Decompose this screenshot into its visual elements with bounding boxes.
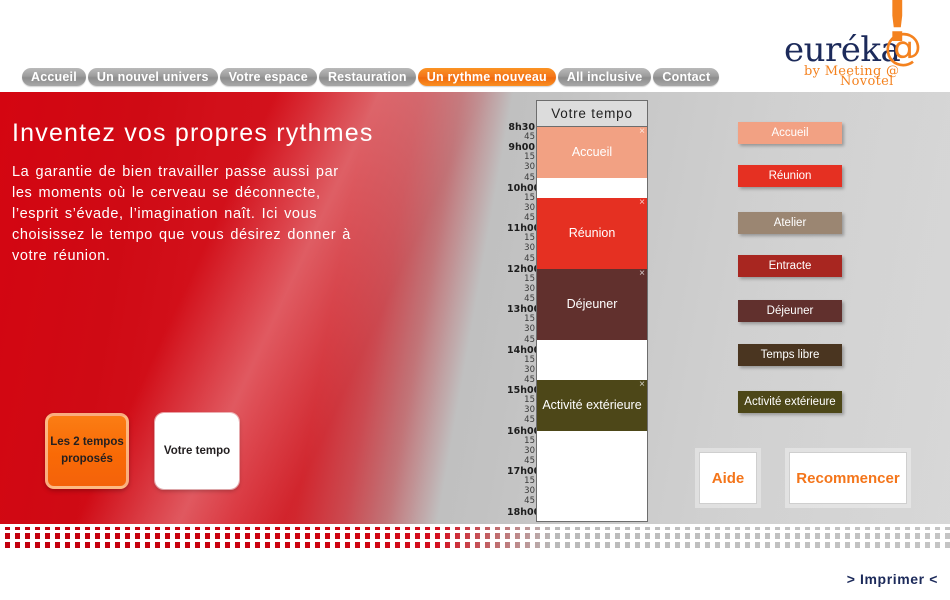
mode-button-label: Votre tempo bbox=[164, 443, 230, 460]
schedule-panel: Votre tempo 8h30459h0015304510h001530451… bbox=[508, 100, 658, 524]
time-tick: 11h00 bbox=[507, 224, 535, 233]
time-tick: 45 bbox=[507, 497, 535, 506]
mode-button-your-tempo[interactable]: Votre tempo bbox=[155, 413, 239, 489]
page-title: Inventez vos propres rythmes bbox=[12, 119, 374, 148]
time-tick: 8h30 bbox=[507, 123, 535, 132]
time-tick: 13h00 bbox=[507, 305, 535, 314]
time-tick: 45 bbox=[507, 174, 535, 183]
activity-button-r-union[interactable]: Réunion bbox=[738, 165, 842, 187]
activity-button-label: Atelier bbox=[774, 217, 807, 229]
eureka-logo: ! euréka @ by Meeting @ Novotel bbox=[776, 2, 936, 86]
time-tick: 15 bbox=[507, 396, 535, 405]
time-tick: 30 bbox=[507, 325, 535, 334]
schedule-block-label: Activité extérieure bbox=[542, 398, 641, 412]
activity-button-activit-ext-rieure[interactable]: Activité extérieure bbox=[738, 391, 842, 413]
restart-button-label: Recommencer bbox=[796, 470, 899, 487]
time-tick: 30 bbox=[507, 487, 535, 496]
help-button[interactable]: Aide bbox=[699, 452, 757, 504]
time-tick: 12h00 bbox=[507, 265, 535, 274]
schedule-block-label: Réunion bbox=[569, 226, 616, 240]
time-tick: 16h00 bbox=[507, 427, 535, 436]
time-tick: 14h00 bbox=[507, 346, 535, 355]
time-tick: 45 bbox=[507, 133, 535, 142]
time-tick: 45 bbox=[507, 255, 535, 264]
activity-button-label: Activité extérieure bbox=[744, 396, 835, 408]
activity-button-entracte[interactable]: Entracte bbox=[738, 255, 842, 277]
page-root: ! euréka @ by Meeting @ Novotel AccueilU… bbox=[0, 0, 950, 600]
close-icon[interactable]: × bbox=[639, 198, 645, 208]
site-header: ! euréka @ by Meeting @ Novotel AccueilU… bbox=[0, 0, 950, 92]
time-tick: 15 bbox=[507, 234, 535, 243]
time-tick: 15 bbox=[507, 477, 535, 486]
nav-item-votre-espace[interactable]: Votre espace bbox=[220, 68, 317, 86]
time-tick: 45 bbox=[507, 457, 535, 466]
time-tick: 45 bbox=[507, 214, 535, 223]
close-icon[interactable]: × bbox=[639, 269, 645, 279]
time-tick: 15 bbox=[507, 194, 535, 203]
activity-button-temps-libre[interactable]: Temps libre bbox=[738, 344, 842, 366]
time-tick: 18h00 bbox=[507, 508, 535, 517]
schedule-block[interactable]: Déjeuner× bbox=[537, 269, 647, 340]
schedule-block[interactable]: Accueil× bbox=[537, 127, 647, 178]
nav-item-all-inclusive[interactable]: All inclusive bbox=[558, 68, 652, 86]
time-tick: 30 bbox=[507, 447, 535, 456]
hero-description: La garantie de bien travailler passe aus… bbox=[12, 162, 362, 267]
time-tick: 30 bbox=[507, 244, 535, 253]
time-tick: 15 bbox=[507, 356, 535, 365]
time-tick: 9h00 bbox=[507, 143, 535, 152]
time-tick: 15 bbox=[507, 275, 535, 284]
time-tick: 45 bbox=[507, 376, 535, 385]
time-tick: 30 bbox=[507, 285, 535, 294]
checker-pattern bbox=[0, 527, 950, 551]
close-icon[interactable]: × bbox=[639, 127, 645, 137]
time-tick: 30 bbox=[507, 366, 535, 375]
nav-item-restauration[interactable]: Restauration bbox=[319, 68, 416, 86]
close-icon[interactable]: × bbox=[639, 380, 645, 390]
time-tick: 15 bbox=[507, 153, 535, 162]
nav-item-un-nouvel-univers[interactable]: Un nouvel univers bbox=[88, 68, 218, 86]
nav-item-un-rythme-nouveau[interactable]: Un rythme nouveau bbox=[418, 68, 556, 86]
schedule-block[interactable]: Activité extérieure× bbox=[537, 380, 647, 431]
activity-button-accueil[interactable]: Accueil bbox=[738, 122, 842, 144]
time-tick: 45 bbox=[507, 295, 535, 304]
time-tick: 10h00 bbox=[507, 184, 535, 193]
help-button-label: Aide bbox=[712, 470, 745, 487]
activity-button-atelier[interactable]: Atelier bbox=[738, 212, 842, 234]
activity-button-label: Accueil bbox=[771, 127, 808, 139]
hero-stage: Inventez vos propres rythmes La garantie… bbox=[0, 92, 950, 524]
time-tick: 30 bbox=[507, 406, 535, 415]
schedule-track[interactable]: Accueil×Réunion×Déjeuner×Activité extéri… bbox=[536, 127, 648, 522]
schedule-block[interactable]: Réunion× bbox=[537, 198, 647, 269]
logo-subtitle-line2: Novotel bbox=[840, 74, 894, 89]
main-navigation: AccueilUn nouvel universVotre espaceRest… bbox=[22, 68, 719, 86]
time-tick: 15 bbox=[507, 437, 535, 446]
restart-button[interactable]: Recommencer bbox=[789, 452, 907, 504]
activity-button-label: Réunion bbox=[769, 170, 812, 182]
activity-button-label: Déjeuner bbox=[767, 305, 814, 317]
schedule-time-axis: 8h30459h0015304510h0015304511h0015304512… bbox=[508, 127, 536, 522]
time-tick: 15h00 bbox=[507, 386, 535, 395]
nav-item-contact[interactable]: Contact bbox=[653, 68, 719, 86]
mode-button-proposed-tempos[interactable]: Les 2 tempos proposés bbox=[45, 413, 129, 489]
nav-item-accueil[interactable]: Accueil bbox=[22, 68, 86, 86]
time-tick: 17h00 bbox=[507, 467, 535, 476]
time-tick: 30 bbox=[507, 163, 535, 172]
checkered-divider bbox=[0, 524, 950, 554]
time-tick: 45 bbox=[507, 416, 535, 425]
time-tick: 15 bbox=[507, 315, 535, 324]
activity-button-label: Temps libre bbox=[761, 349, 820, 361]
activity-button-d-jeuner[interactable]: Déjeuner bbox=[738, 300, 842, 322]
schedule-block-label: Accueil bbox=[572, 145, 612, 159]
mode-button-label: Les 2 tempos proposés bbox=[48, 434, 126, 468]
logo-at-icon: @ bbox=[884, 28, 922, 66]
activity-button-label: Entracte bbox=[769, 260, 812, 272]
schedule-block-label: Déjeuner bbox=[567, 297, 618, 311]
schedule-title: Votre tempo bbox=[536, 100, 648, 127]
print-link[interactable]: > Imprimer < bbox=[847, 571, 938, 587]
time-tick: 45 bbox=[507, 336, 535, 345]
time-tick: 30 bbox=[507, 204, 535, 213]
